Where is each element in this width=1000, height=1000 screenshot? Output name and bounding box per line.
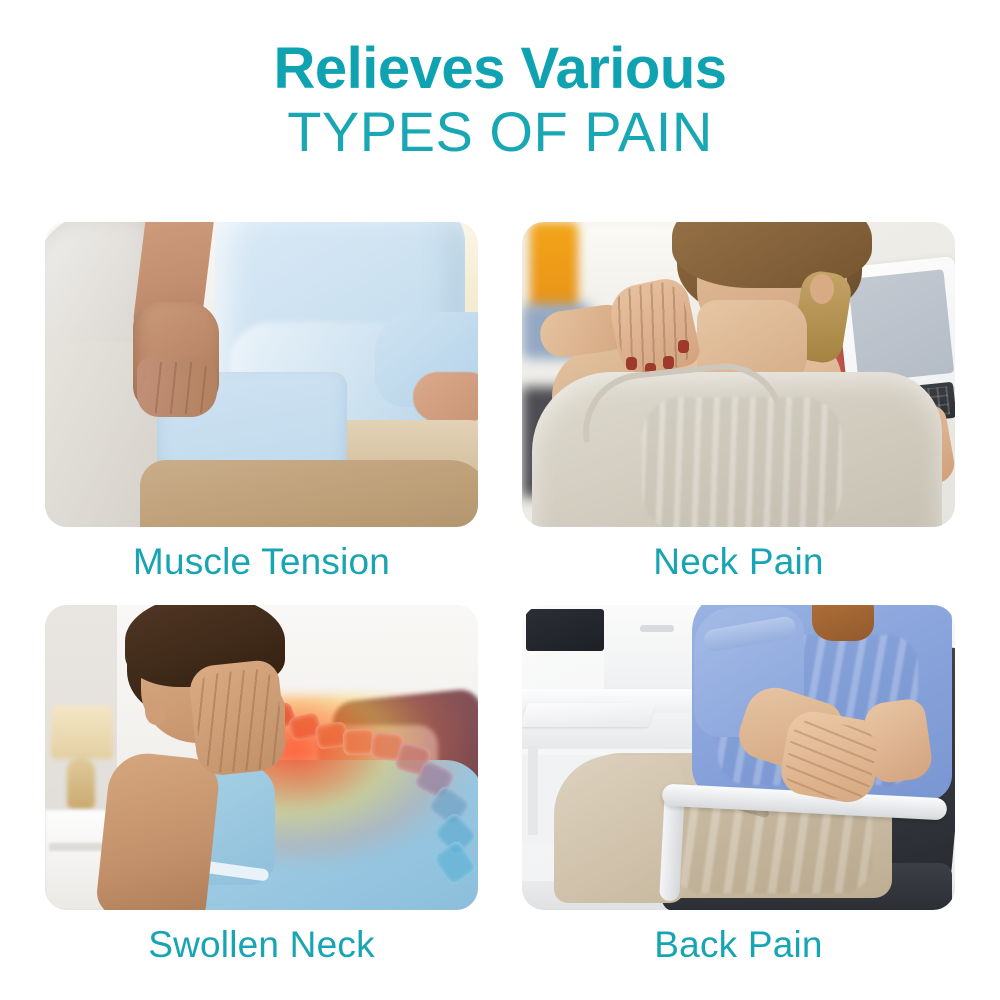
pain-type-grid: Muscle Tension: [45, 222, 955, 966]
grid-cell-swollen-neck[interactable]: Swollen Neck: [45, 605, 478, 966]
promo-page: Relieves Various TYPES OF PAIN: [0, 0, 1000, 1000]
caption-muscle-tension: Muscle Tension: [45, 541, 478, 583]
photo-swollen-neck: [45, 605, 478, 910]
photo-neck-pain: [522, 222, 955, 527]
photo-muscle-tension: [45, 222, 478, 527]
photo-back-pain: [522, 605, 955, 910]
page-title: Relieves Various TYPES OF PAIN: [0, 40, 1000, 160]
caption-back-pain: Back Pain: [522, 924, 955, 966]
grid-cell-back-pain[interactable]: Back Pain: [522, 605, 955, 966]
title-line-1: Relieves Various: [0, 40, 1000, 98]
title-line-2: TYPES OF PAIN: [0, 104, 1000, 160]
caption-swollen-neck: Swollen Neck: [45, 924, 478, 966]
grid-cell-muscle-tension[interactable]: Muscle Tension: [45, 222, 478, 583]
caption-neck-pain: Neck Pain: [522, 541, 955, 583]
grid-cell-neck-pain[interactable]: Neck Pain: [522, 222, 955, 583]
